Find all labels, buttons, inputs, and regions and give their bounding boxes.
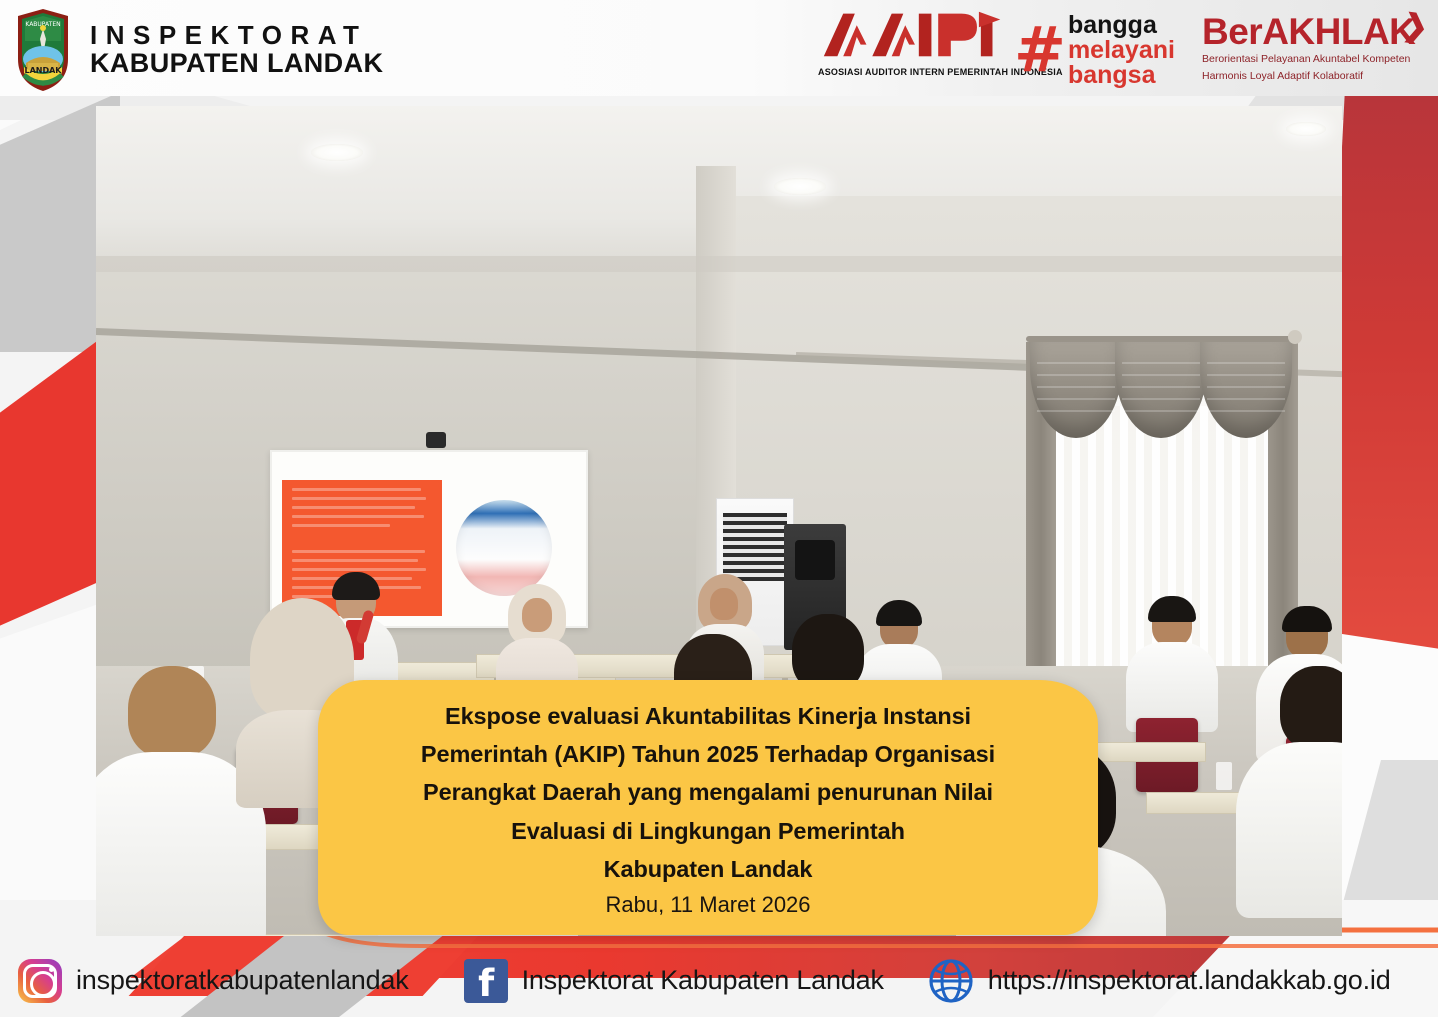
drinking-glass-3 [1216,762,1232,790]
berakhlak-logo: BerAKHLAK ❯ Berorientasi Pelayanan Akunt… [1202,7,1432,93]
instagram-icon[interactable] [18,959,62,1003]
chevron-right-icon: ❯ [1401,7,1431,45]
bangga-line2: melayani [1068,38,1175,63]
aaipi-subtitle: ASOSIASI AUDITOR INTERN PEMERINTAH INDON… [818,67,1014,77]
curtain-valance [1030,342,1292,442]
bangga-line3: bangsa [1068,63,1175,88]
partner-logos: ASOSIASI AUDITOR INTERN PEMERINTAH INDON… [818,5,1438,95]
ac-grill [723,513,787,581]
attendee-front-6-head [1280,666,1342,750]
org-title-line2: KABUPATEN LANDAK [90,49,383,77]
photo-ceiling-band [96,256,1342,272]
caption-line-4: Evaluasi di Lingkungan Pemerintah [511,812,905,850]
attendee-mid-2 [1126,602,1218,732]
caption-line-1: Ekspose evaluasi Akuntabilitas Kinerja I… [445,697,971,735]
caption-date: Rabu, 11 Maret 2026 [605,892,810,918]
attendee-front-6-body [1236,742,1342,918]
website-url: https://inspektorat.landakkab.go.id [988,965,1391,996]
presenter-hair [332,572,380,600]
bangga-melayani-bangsa-logo: # bangga melayani bangsa [1014,5,1202,95]
facebook-icon[interactable]: f [464,959,508,1003]
kabupaten-landak-emblem: KABUPATEN LANDAK [14,7,72,93]
svg-text:LANDAK: LANDAK [24,66,62,75]
event-caption-box: Ekspose evaluasi Akuntabilitas Kinerja I… [318,680,1098,935]
facebook-handle: Inspektorat Kabupaten Landak [522,965,884,996]
aaipi-logo: ASOSIASI AUDITOR INTERN PEMERINTAH INDON… [818,7,1014,93]
ceiling-light-2 [774,178,826,195]
panelist-2-head [710,588,738,620]
berakhlak-values-line2: Harmonis Loyal Adaptif Kolaboratif [1202,70,1432,84]
curtain-rod [1026,336,1296,342]
decor-left-lower-band [0,600,110,900]
attendee-front-6 [1236,666,1342,916]
ceiling-light-1 [311,144,363,161]
caption-line-5: Kabupaten Landak [604,850,813,888]
bangga-words: bangga melayani bangsa [1068,13,1175,88]
website-item[interactable]: https://inspektorat.landakkab.go.id [928,958,1391,1004]
bangga-line1: bangga [1068,13,1175,38]
instagram-handle: inspektoratkabupatenlandak [76,965,409,996]
instagram-item[interactable]: inspektoratkabupatenlandak [0,959,409,1003]
aaipi-mark-icon [818,7,1008,61]
berakhlak-values-line1: Berorientasi Pelayanan Akuntabel Kompete… [1202,53,1432,67]
caption-line-3: Perangkat Daerah yang mengalami penuruna… [423,773,993,811]
projector-screen-camera [426,432,446,448]
poster-header: KABUPATEN LANDAK INSPEKTORAT KABUPATEN L… [0,0,1438,100]
poster-root: KABUPATEN LANDAK INSPEKTORAT KABUPATEN L… [0,0,1438,1017]
globe-icon[interactable] [928,958,974,1004]
speaker-driver [795,540,835,580]
org-title-line1: INSPEKTORAT [90,22,383,49]
ceiling-light-3 [1286,122,1326,136]
hashtag-icon: # [1014,25,1066,75]
slide-circular-photo [456,500,552,596]
facebook-item[interactable]: f Inspektorat Kabupaten Landak [464,959,884,1003]
panelist-1-head [522,598,552,632]
attendee-front-1-head [128,666,216,758]
organization-title: INSPEKTORAT KABUPATEN LANDAK [90,22,383,77]
berakhlak-title: BerAKHLAK [1202,13,1432,50]
poster-footer: inspektoratkabupatenlandak f Inspektorat… [0,944,1438,1017]
curtain-rod-finial [1288,330,1302,344]
caption-line-2: Pemerintah (AKIP) Tahun 2025 Terhadap Or… [421,735,995,773]
